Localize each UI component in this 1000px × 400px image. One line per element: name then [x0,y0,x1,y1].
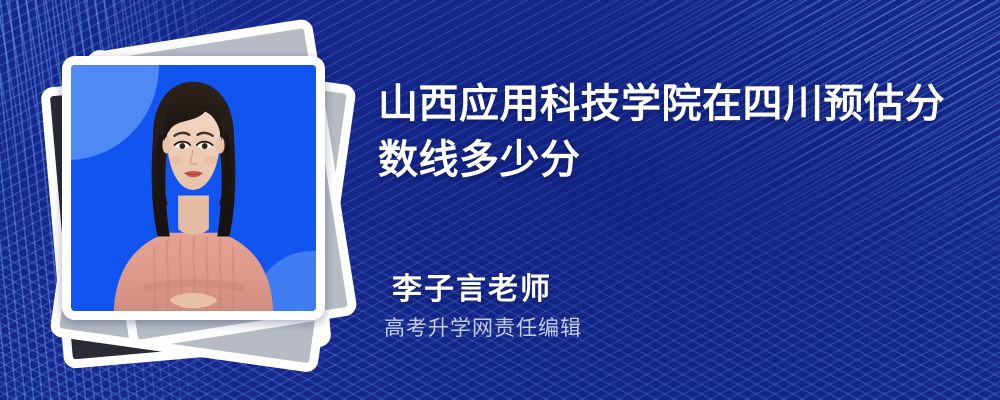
author-portrait-image [71,65,316,311]
author-byline: 李子言老师 高考升学网责任编辑 [392,272,952,341]
author-photo-backdrop [71,65,316,311]
article-header-banner: 山西应用科技学院在四川预估分数线多少分 李子言老师 高考升学网责任编辑 [0,0,1000,400]
author-photo-card [62,56,325,320]
author-photo-cluster [46,30,356,360]
page-title: 山西应用科技学院在四川预估分数线多少分 [378,76,958,188]
banner-text-block: 山西应用科技学院在四川预估分数线多少分 李子言老师 高考升学网责任编辑 [376,0,976,400]
author-name: 李子言老师 [392,272,952,308]
author-role: 高考升学网责任编辑 [384,315,952,341]
